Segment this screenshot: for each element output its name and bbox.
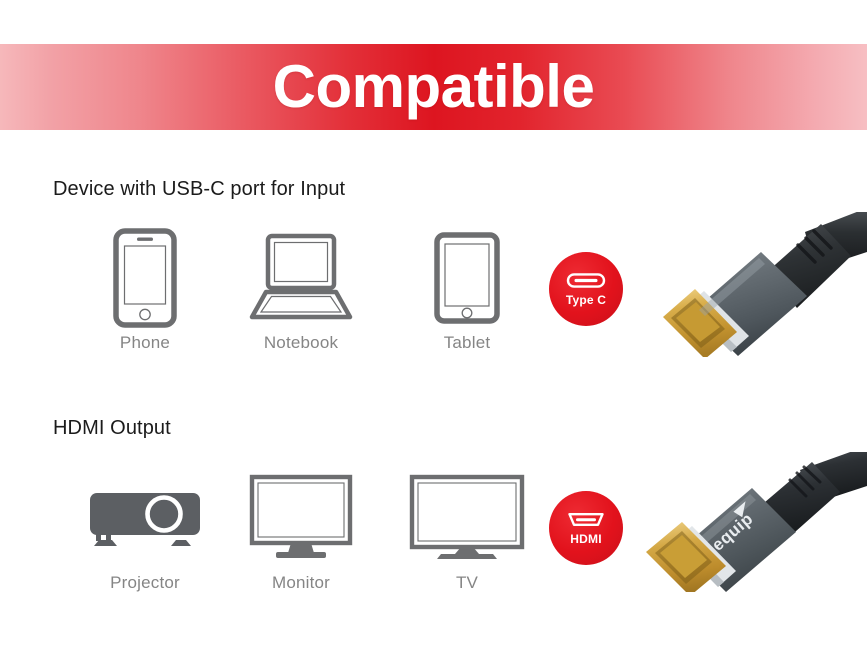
device-item-notebook: Notebook [226,222,376,372]
monitor-icon [249,462,353,574]
device-item-tv: TV [392,462,542,612]
device-item-monitor: Monitor [226,462,376,612]
device-label: Monitor [272,574,330,591]
hdmi-cable-connector-photo: equip [640,452,867,592]
badge-label: HDMI [570,533,601,545]
device-label: TV [456,574,478,591]
page-title: Compatible [273,57,595,117]
hdmi-connector-icon [566,511,606,528]
status-badge-hdmi: HDMI [549,491,623,565]
device-item-projector: Projector [70,462,220,612]
device-item-phone: Phone [70,222,220,372]
badge-label: Type C [566,294,606,306]
device-label: Phone [120,334,170,351]
phone-icon [113,222,177,334]
header-banner: Compatible [0,44,867,130]
section-heading-input: Device with USB-C port for Input [53,178,345,201]
device-label: Projector [110,574,180,591]
device-item-tablet: Tablet [392,222,542,372]
device-label: Tablet [444,334,491,351]
device-label: Notebook [264,334,338,351]
tablet-icon [434,222,500,334]
usb-c-connector-icon [566,272,606,289]
status-badge-type-c: Type C [549,252,623,326]
section-heading-output: HDMI Output [53,417,171,440]
projector-icon [88,462,202,574]
notebook-icon [249,222,353,334]
usb-c-cable-connector-photo [655,212,867,357]
tv-icon [409,462,525,574]
